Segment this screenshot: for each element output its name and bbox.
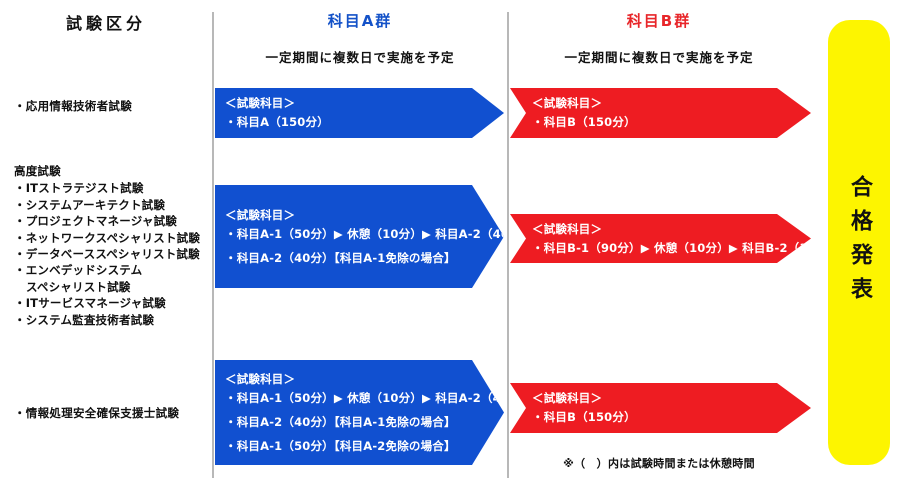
- subheader-group-a: 一定期間に複数日で実施を予定: [214, 47, 506, 66]
- advanced-exam-item: ・ITストラテジスト試験: [14, 180, 200, 196]
- arrow-line: ・科目B（150分）: [532, 408, 811, 427]
- arrow-heading: ＜試験科目＞: [532, 389, 811, 408]
- arrow-heading: ＜試験科目＞: [225, 206, 504, 225]
- advanced-exam-item-continued: スペシャリスト試験: [14, 279, 200, 295]
- arrow-line: ・科目A-2（40分）【科目A-1免除の場合】: [225, 249, 504, 268]
- result-announcement-label: 合格発表: [848, 175, 870, 311]
- advanced-exam-item: ・ITサービスマネージャ試験: [14, 295, 200, 311]
- arrow-group-a-row-3: ＜試験科目＞ ・科目A-1（50分）▶ 休憩（10分）▶ 科目A-2（40分） …: [215, 360, 504, 465]
- header-exam-category: 試験区分: [0, 10, 212, 34]
- arrow-group-a-row-2: ＜試験科目＞ ・科目A-1（50分）▶ 休憩（10分）▶ 科目A-2（40分） …: [215, 185, 504, 288]
- arrow-heading: ＜試験科目＞: [225, 370, 504, 389]
- header-group-a: 科目A群: [214, 10, 506, 31]
- subheader-group-b: 一定期間に複数日で実施を予定: [509, 47, 809, 66]
- result-announcement-banner: 合格発表: [828, 20, 890, 465]
- arrow-line: ・科目B-1（90分）▶ 休憩（10分）▶ 科目B-2（120分）: [532, 239, 811, 258]
- arrow-heading: ＜試験科目＞: [532, 220, 811, 239]
- advanced-exam-item: ・システムアーキテクト試験: [14, 197, 200, 213]
- header-group-b: 科目B群: [509, 10, 809, 31]
- arrow-line: ・科目A-2（40分）【科目A-1免除の場合】: [225, 413, 504, 432]
- advanced-exam-item: ・データベーススペシャリスト試験: [14, 246, 200, 262]
- category-label-advanced-exams: 高度試験 ・ITストラテジスト試験 ・システムアーキテクト試験 ・プロジェクトマ…: [14, 163, 200, 328]
- arrow-group-b-row-2: ＜試験科目＞ ・科目B-1（90分）▶ 休憩（10分）▶ 科目B-2（120分）: [510, 214, 811, 263]
- advanced-exams-title: 高度試験: [14, 163, 200, 179]
- arrow-group-a-row-1: ＜試験科目＞ ・科目A（150分）: [215, 88, 504, 138]
- advanced-exam-item: ・エンベデッドシステム: [14, 262, 200, 278]
- footnote-time-note: ※（ ）内は試験時間または休憩時間: [509, 455, 809, 471]
- arrow-heading: ＜試験科目＞: [225, 94, 504, 113]
- arrow-line: ・科目A（150分）: [225, 113, 504, 132]
- column-divider-right: [507, 12, 509, 478]
- arrow-group-b-row-3: ＜試験科目＞ ・科目B（150分）: [510, 383, 811, 433]
- category-label-applied-information: ・応用情報技術者試験: [14, 98, 132, 114]
- arrow-group-b-row-1: ＜試験科目＞ ・科目B（150分）: [510, 88, 811, 138]
- advanced-exam-item: ・システム監査技術者試験: [14, 312, 200, 328]
- advanced-exam-item: ・ネットワークスペシャリスト試験: [14, 230, 200, 246]
- arrow-line: ・科目B（150分）: [532, 113, 811, 132]
- diagram-canvas: 試験区分 科目A群 科目B群 一定期間に複数日で実施を予定 一定期間に複数日で実…: [0, 0, 908, 487]
- arrow-line: ・科目A-1（50分）【科目A-2免除の場合】: [225, 437, 504, 456]
- category-label-security-support: ・情報処理安全確保支援士試験: [14, 405, 179, 421]
- arrow-line: ・科目A-1（50分）▶ 休憩（10分）▶ 科目A-2（40分）: [225, 225, 504, 244]
- column-divider-left: [212, 12, 214, 478]
- arrow-line: ・科目A-1（50分）▶ 休憩（10分）▶ 科目A-2（40分）: [225, 389, 504, 408]
- advanced-exam-item: ・プロジェクトマネージャ試験: [14, 213, 200, 229]
- arrow-heading: ＜試験科目＞: [532, 94, 811, 113]
